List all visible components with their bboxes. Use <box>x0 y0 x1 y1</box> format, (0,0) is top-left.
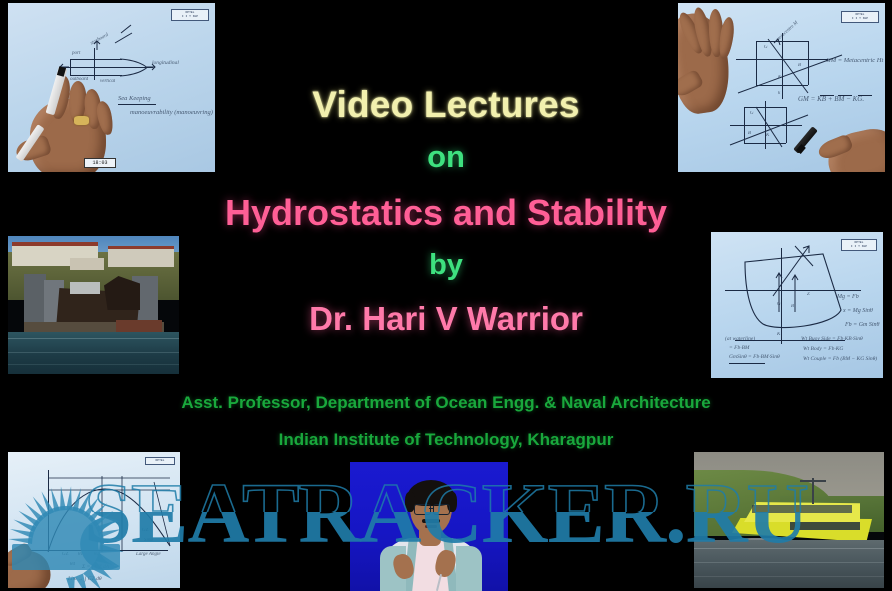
thumbnail-curve-of-stability: GZ θ1 θ2 θ4 GZ Sinθ Large Angle Σ = ∫ GZ… <box>8 452 180 588</box>
affiliation-line-1: Asst. Professor, Department of Ocean Eng… <box>0 393 892 413</box>
slide-canvas: port starboard longitudinal outboard ver… <box>0 0 892 591</box>
note-b-upper: B <box>798 63 801 69</box>
note-gz4: θ4 <box>70 562 75 568</box>
affiliation-line-2: Indian Institute of Technology, Kharagpu… <box>0 430 892 450</box>
thumbnail-lecturer <box>350 462 508 591</box>
note-k-upper: K <box>778 75 781 81</box>
note-calc-left-3: GmSinθ = Fb·BM·Sinθ <box>729 354 780 360</box>
note-longitudinal: longitudinal <box>152 60 179 66</box>
nptel-stamp-top-right: NPTELI I T KGP <box>841 11 879 23</box>
note-gz2: θ1 <box>78 552 83 558</box>
note-range-3: Large Angle <box>136 552 161 558</box>
title-video-lectures: Video Lectures <box>0 84 892 126</box>
nptel-stamp-bottom-left: NPTEL <box>145 457 175 465</box>
note-formula-1: Σ = ∫ GZ dA <box>82 564 109 570</box>
title-subject: Hydrostatics and Stability <box>0 192 892 234</box>
note-range-2: Sinθ <box>144 538 153 544</box>
note-gz-upper: G <box>764 45 768 51</box>
note-gz3: θ2 <box>94 552 99 558</box>
title-by: by <box>0 249 892 282</box>
nptel-stamp-top-left: NPTELI I T KGP <box>171 9 209 21</box>
note-port: port <box>72 51 80 57</box>
note-b-lower: B <box>748 131 751 137</box>
title-author: Dr. Hari V Warrior <box>0 300 892 338</box>
note-k-lower: K <box>766 133 769 139</box>
thumbnail-hydrofoil <box>694 452 884 588</box>
note-range-1: GZ <box>142 528 148 534</box>
note-calc-right-2: Wt Body = Fb·KG <box>803 346 843 352</box>
title-on: on <box>0 139 892 175</box>
note-z-point: Z <box>807 292 810 298</box>
note-formula-2: Lim → ∫ GZ dθ <box>68 576 102 582</box>
note-gm-metacentric: GM = Metacentric Ht <box>826 57 883 64</box>
note-calc-left-2: = Fb·BM <box>729 345 750 351</box>
note-calc-right-3: Wt Couple = Fb (BM − KG Sinθ) <box>803 356 877 362</box>
note-gz1: GZ <box>62 552 68 558</box>
